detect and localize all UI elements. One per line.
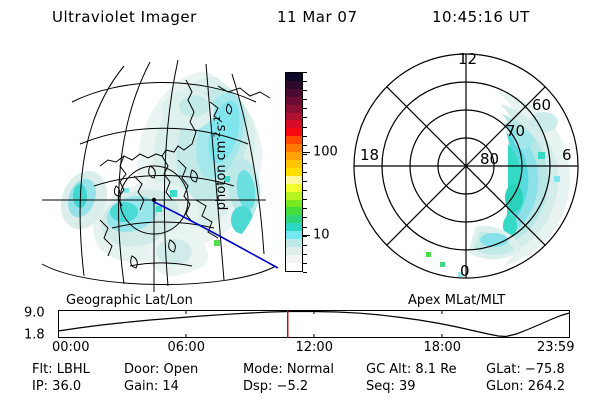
- mlt-label-6: 6: [562, 146, 572, 164]
- status-row-1: Flt: LBHLDoor: OpenMode: NormalGC Alt: 8…: [0, 362, 600, 379]
- colorbar-tick-label: 10: [313, 228, 330, 243]
- geographic-image-panel: [28, 40, 280, 292]
- orbit-time-tick-label: 18:00: [424, 340, 461, 355]
- mlt-label-0: 0: [460, 262, 470, 280]
- observation-time: 10:45:16 UT: [432, 8, 530, 26]
- colorbar-minor-tick: [303, 190, 307, 191]
- instrument-title: Ultraviolet Imager: [52, 8, 197, 26]
- header-bar: Ultraviolet Imager 11 Mar 07 10:45:16 UT: [0, 8, 600, 30]
- colorbar-minor-tick: [303, 163, 307, 164]
- colorbar-minor-tick: [303, 81, 307, 82]
- geographic-map-svg: [28, 40, 280, 292]
- colorbar-minor-tick: [303, 199, 307, 200]
- colorbar-minor-tick: [303, 245, 307, 246]
- colorbar-minor-tick: [303, 154, 307, 155]
- orbit-time-tick-label: 12:00: [296, 340, 333, 355]
- status-field: Seq: 39: [366, 379, 416, 394]
- colorbar-major-tick: [303, 235, 310, 236]
- status-bar: Flt: LBHLDoor: OpenMode: NormalGC Alt: 8…: [0, 362, 600, 400]
- colorbar-minor-tick: [303, 172, 307, 173]
- colorbar-minor-tick: [303, 108, 307, 109]
- colorbar-minor-tick: [303, 272, 307, 273]
- orbit-y-tick-high: 9.0: [24, 306, 45, 321]
- status-field: Gain: 14: [124, 379, 179, 394]
- mlt-panel-label: Apex MLat/MLT: [408, 293, 505, 308]
- colorbar-minor-tick: [303, 181, 307, 182]
- colorbar-minor-tick: [303, 208, 307, 209]
- colorbar-title: photon cm-2s-1: [213, 116, 229, 210]
- mlat-label-60: 60: [532, 96, 551, 114]
- colorbar-minor-tick: [303, 117, 307, 118]
- colorbar-tick-label: 100: [313, 145, 338, 160]
- status-field: GLat: −75.8: [486, 362, 565, 377]
- mlat-label-80: 80: [480, 150, 499, 168]
- colorbar-axis: 10010: [285, 72, 303, 272]
- colorbar-minor-tick: [303, 90, 307, 91]
- colorbar-minor-tick: [303, 136, 307, 137]
- colorbar-minor-tick: [303, 217, 307, 218]
- status-field: Flt: LBHL: [32, 362, 90, 377]
- mlt-label-18: 18: [360, 146, 379, 164]
- colorbar-minor-tick: [303, 99, 307, 100]
- colorbar-minor-tick: [303, 72, 307, 73]
- status-field: Mode: Normal: [243, 362, 334, 377]
- mlt-spokes: [354, 54, 578, 278]
- orbit-time-tick-label: 00:00: [52, 340, 89, 355]
- mlt-label-12: 12: [458, 50, 477, 68]
- status-field: IP: 36.0: [32, 379, 81, 394]
- orbit-time-tick-label: 23:59: [537, 340, 574, 355]
- colorbar-minor-tick: [303, 263, 307, 264]
- status-field: Dsp: −5.2: [243, 379, 308, 394]
- magnetic-dial-panel: 12 18 6 0 60 70 80: [348, 48, 584, 284]
- orbit-y-tick-low: 1.8: [24, 328, 45, 343]
- status-field: Door: Open: [124, 362, 198, 377]
- colorbar: photon cm-2s-1 10010: [262, 60, 352, 285]
- colorbar-major-tick: [303, 152, 310, 153]
- observation-date: 11 Mar 07: [277, 8, 358, 26]
- mlt-dial-svg: 12 18 6 0 60 70 80: [348, 48, 584, 284]
- status-field: GLon: 264.2: [486, 379, 565, 394]
- status-field: GC Alt: 8.1 Re: [366, 362, 457, 377]
- orbit-plot-svg[interactable]: [58, 310, 570, 338]
- geo-panel-label: Geographic Lat/Lon: [66, 293, 193, 308]
- colorbar-minor-tick: [303, 227, 307, 228]
- colorbar-minor-tick: [303, 254, 307, 255]
- colorbar-minor-tick: [303, 127, 307, 128]
- orbit-y-axis-label: GC Alt: [0, 304, 4, 345]
- altitude-curve: [58, 312, 570, 337]
- mlat-label-70: 70: [506, 122, 525, 140]
- orbit-altitude-panel: Geographic Lat/Lon Apex MLat/MLT GC Alt …: [0, 296, 600, 358]
- orbit-time-tick-label: 06:00: [168, 340, 205, 355]
- colorbar-minor-tick: [303, 145, 307, 146]
- status-row-2: IP: 36.0Gain: 14Dsp: −5.2Seq: 39GLon: 26…: [0, 379, 600, 396]
